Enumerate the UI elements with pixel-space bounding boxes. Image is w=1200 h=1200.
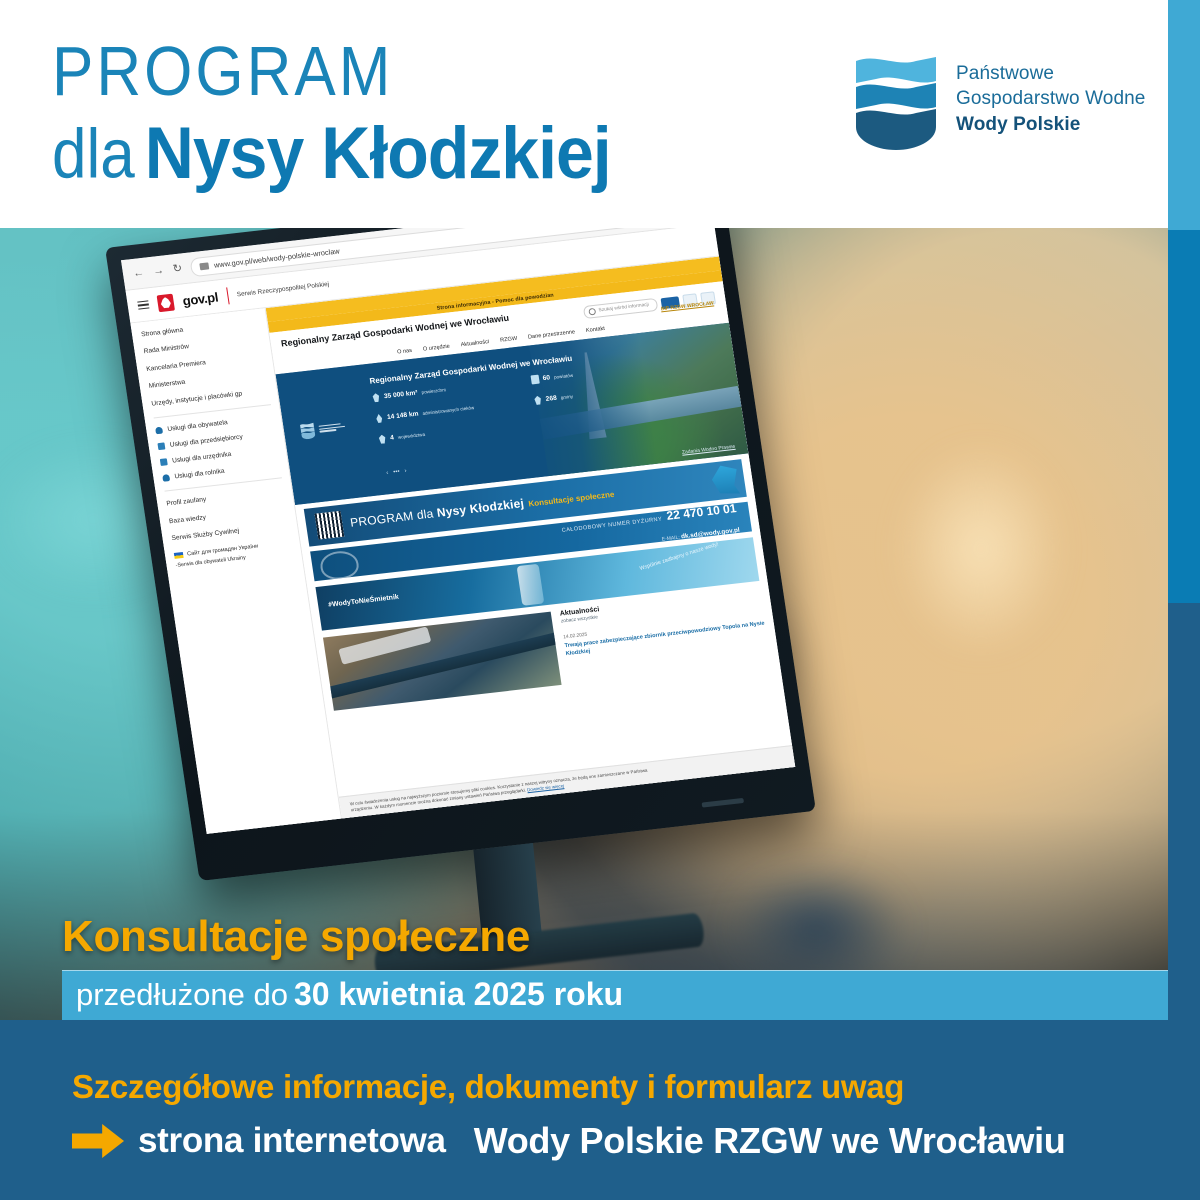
consultations-deadline: przedłużone do30 kwietnia 2025 roku bbox=[76, 978, 623, 1010]
logo-line-1: Państwowe bbox=[956, 61, 1145, 86]
nav-item-o-urzedzie[interactable]: O urzędzie bbox=[423, 344, 451, 353]
sidebar-service-label: Usługi dla urzędnika bbox=[172, 451, 232, 465]
arrow-right-icon bbox=[72, 1124, 124, 1158]
stat-value: 60 bbox=[542, 374, 550, 382]
edge-segment-dark-blue bbox=[1168, 603, 1200, 1200]
search-icon bbox=[588, 308, 596, 316]
right-edge-strip bbox=[1168, 0, 1200, 1200]
govpl-wordmark[interactable]: gov.pl bbox=[182, 289, 220, 308]
banner-program-title: PROGRAM dla Nysy Kłodzkiej bbox=[349, 496, 525, 530]
consultations-band: Konsultacje społeczne przedłużone do30 k… bbox=[0, 912, 1168, 1020]
stat-label: gminy bbox=[560, 394, 573, 400]
person-icon bbox=[155, 427, 163, 435]
logo-line-3: Wody Polskie bbox=[956, 112, 1145, 137]
building-icon bbox=[530, 375, 539, 385]
folder-icon bbox=[160, 458, 168, 466]
url-text: www.gov.pl/web/wody-polskie-wroclaw bbox=[213, 246, 340, 269]
info-website-row: strona internetowa Wody Polskie RZGW we … bbox=[72, 1120, 1066, 1162]
stat-label: powiatów bbox=[554, 373, 574, 380]
ukraine-flag-icon bbox=[174, 551, 184, 558]
plastic-bottle-icon bbox=[517, 564, 545, 606]
title-dla: dla bbox=[52, 121, 135, 190]
info-website-name[interactable]: Wody Polskie RZGW we Wrocławiu bbox=[474, 1120, 1066, 1162]
site-content: Strona informacyjna - Pomoc dla powodzia… bbox=[266, 257, 796, 821]
polish-eagle-icon bbox=[157, 293, 175, 312]
info-band: Szczegółowe informacje, dokumenty i form… bbox=[0, 1020, 1168, 1200]
drop-icon bbox=[375, 414, 384, 424]
stat-label: województwa bbox=[398, 432, 426, 440]
stat-item: 268 gminy bbox=[533, 378, 693, 405]
stat-label: powierzchni bbox=[421, 387, 446, 395]
nav-item-o-nas[interactable]: O nas bbox=[397, 348, 413, 356]
title-program: PROGRAM bbox=[52, 38, 611, 107]
title-second-line: dlaNysy Kłodzkiej bbox=[52, 122, 611, 190]
phone-handset-icon bbox=[319, 549, 361, 581]
deadline-date: 30 kwietnia 2025 roku bbox=[294, 976, 623, 1012]
map-icon bbox=[533, 395, 542, 405]
info-headline: Szczegółowe informacje, dokumenty i form… bbox=[72, 1068, 904, 1106]
arrow-left-icon[interactable]: ← bbox=[132, 267, 145, 279]
hamburger-icon[interactable] bbox=[137, 300, 149, 310]
chevron-left-icon[interactable]: ‹ bbox=[386, 470, 389, 476]
pin-icon bbox=[371, 393, 380, 403]
computer-monitor: ← → ↻ www.gov.pl/web/wody-polskie-wrocla… bbox=[105, 228, 816, 881]
stat-value: 268 bbox=[545, 395, 557, 403]
waves-logo-icon bbox=[299, 422, 316, 440]
logo-text-block: Państwowe Gospodarstwo Wodne Wody Polski… bbox=[956, 55, 1145, 137]
title-nysy-klodzkiej: Nysy Kłodzkiej bbox=[145, 117, 611, 190]
divider bbox=[226, 287, 230, 304]
govpl-tagline: Serwis Rzeczypospolitej Polskiej bbox=[236, 280, 329, 297]
deadline-prefix: przedłużone do bbox=[76, 977, 288, 1012]
poland-map-icon bbox=[710, 464, 740, 497]
search-input[interactable]: Szukaj wśród informacji bbox=[583, 298, 658, 319]
header: PROGRAM dlaNysy Kłodzkiej Państwowe Gosp… bbox=[0, 0, 1168, 228]
stat-value: 35 000 km² bbox=[384, 389, 419, 400]
stat-value: 4 bbox=[390, 434, 395, 441]
construction-site-photo[interactable] bbox=[323, 612, 561, 711]
hero-logo-wordmark bbox=[319, 422, 346, 434]
nav-item-kontakt[interactable]: Kontakt bbox=[586, 326, 606, 334]
edge-segment-mid-blue bbox=[1168, 230, 1200, 603]
briefcase-icon bbox=[157, 443, 165, 451]
hashtag-text: #WodyToNieŚmietnik bbox=[328, 594, 400, 609]
person-icon bbox=[162, 474, 170, 482]
sidebar-service-label: Usługi dla rolnika bbox=[174, 468, 225, 481]
page-title: PROGRAM dlaNysy Kłodzkiej bbox=[52, 38, 611, 190]
page-body: Strona główna Rada Ministrów Kancelaria … bbox=[130, 257, 795, 834]
logo-line-2: Gospodarstwo Wodne bbox=[956, 86, 1145, 111]
reload-icon[interactable]: ↻ bbox=[172, 263, 183, 275]
stat-item: 4 województwa bbox=[378, 417, 538, 444]
news-text-column: Aktualności zobacz wszystkie 14.02.2025 … bbox=[559, 588, 771, 684]
nav-item-rzgw[interactable]: RZGW bbox=[500, 336, 518, 344]
monitor-screen: ← → ↻ www.gov.pl/web/wody-polskie-wrocla… bbox=[121, 228, 795, 834]
waves-logo-icon bbox=[852, 55, 940, 150]
stat-value: 14 148 km bbox=[387, 410, 419, 420]
carousel-dots[interactable]: ••• bbox=[393, 469, 400, 476]
region-icon bbox=[378, 434, 387, 444]
nav-item-dane-przestrzenne[interactable]: Dane przestrzenne bbox=[528, 329, 576, 340]
site-info-icon[interactable] bbox=[199, 262, 209, 270]
handwriting-text: Wspólnie zadbajmy o nasze wody! bbox=[639, 541, 720, 573]
sidebar-service-label: Usługi dla obywatela bbox=[167, 419, 228, 433]
consultations-deadline-bar: przedłużone do30 kwietnia 2025 roku bbox=[62, 970, 1168, 1022]
banner-program-subtitle: Konsultacje społeczne bbox=[528, 490, 615, 509]
poster-root: PROGRAM dlaNysy Kłodzkiej Państwowe Gosp… bbox=[0, 0, 1200, 1200]
stat-label: administrowanych cieków bbox=[422, 405, 475, 416]
sidebar-service-label: Usługi dla przedsiębiorcy bbox=[169, 434, 243, 449]
edge-segment-light-blue bbox=[1168, 0, 1200, 230]
qr-code-icon bbox=[315, 511, 345, 540]
wody-polskie-logo: Państwowe Gospodarstwo Wodne Wody Polski… bbox=[852, 55, 1145, 150]
arrow-right-icon[interactable]: → bbox=[152, 265, 165, 277]
consultations-title: Konsultacje społeczne bbox=[62, 912, 530, 962]
search-placeholder: Szukaj wśród informacji bbox=[598, 303, 649, 314]
info-website-label: strona internetowa bbox=[138, 1121, 446, 1161]
nav-item-aktualnosci[interactable]: Aktualności bbox=[460, 339, 489, 348]
